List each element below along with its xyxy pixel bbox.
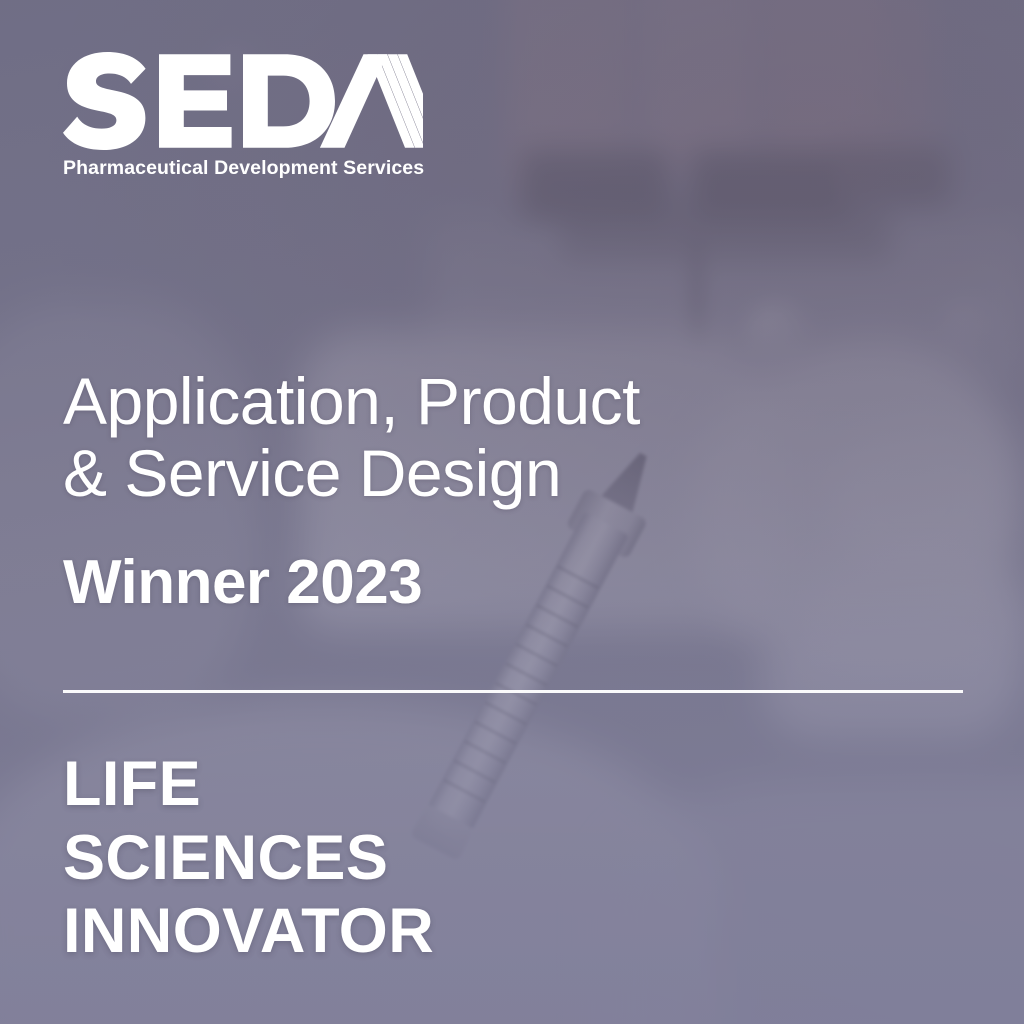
logo-tagline: Pharmaceutical Development Services bbox=[63, 157, 424, 180]
award-line-2: SCIENCES bbox=[63, 822, 434, 896]
page-title: Application, Product & Service Design bbox=[63, 366, 640, 510]
seda-logo[interactable]: Pharmaceutical Development Services bbox=[63, 52, 424, 180]
award-name: LIFE SCIENCES INNOVATOR bbox=[63, 748, 434, 969]
foreground-content: Pharmaceutical Development Services Appl… bbox=[0, 0, 1024, 1024]
divider bbox=[63, 690, 963, 693]
award-line-3: INNOVATOR bbox=[63, 895, 434, 969]
seda-logo-mark bbox=[63, 52, 423, 150]
winner-label: Winner 2023 bbox=[63, 552, 422, 614]
award-graphic: Pharmaceutical Development Services Appl… bbox=[0, 0, 1024, 1024]
award-line-1: LIFE bbox=[63, 748, 434, 822]
